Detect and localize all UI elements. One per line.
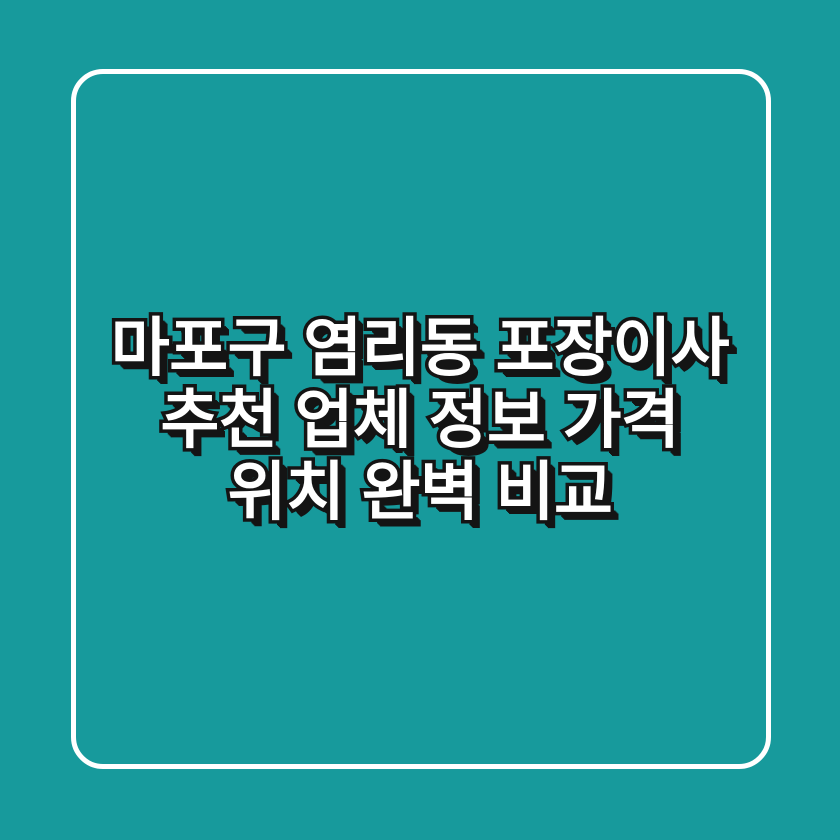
thumbnail-canvas: 마포구 염리동 포장이사 추천 업체 정보 가격 위치 완벽 비교 (0, 0, 840, 840)
headline-block: 마포구 염리동 포장이사 추천 업체 정보 가격 위치 완벽 비교 (0, 0, 840, 840)
page-title: 마포구 염리동 포장이사 추천 업체 정보 가격 위치 완벽 비교 (110, 312, 730, 528)
